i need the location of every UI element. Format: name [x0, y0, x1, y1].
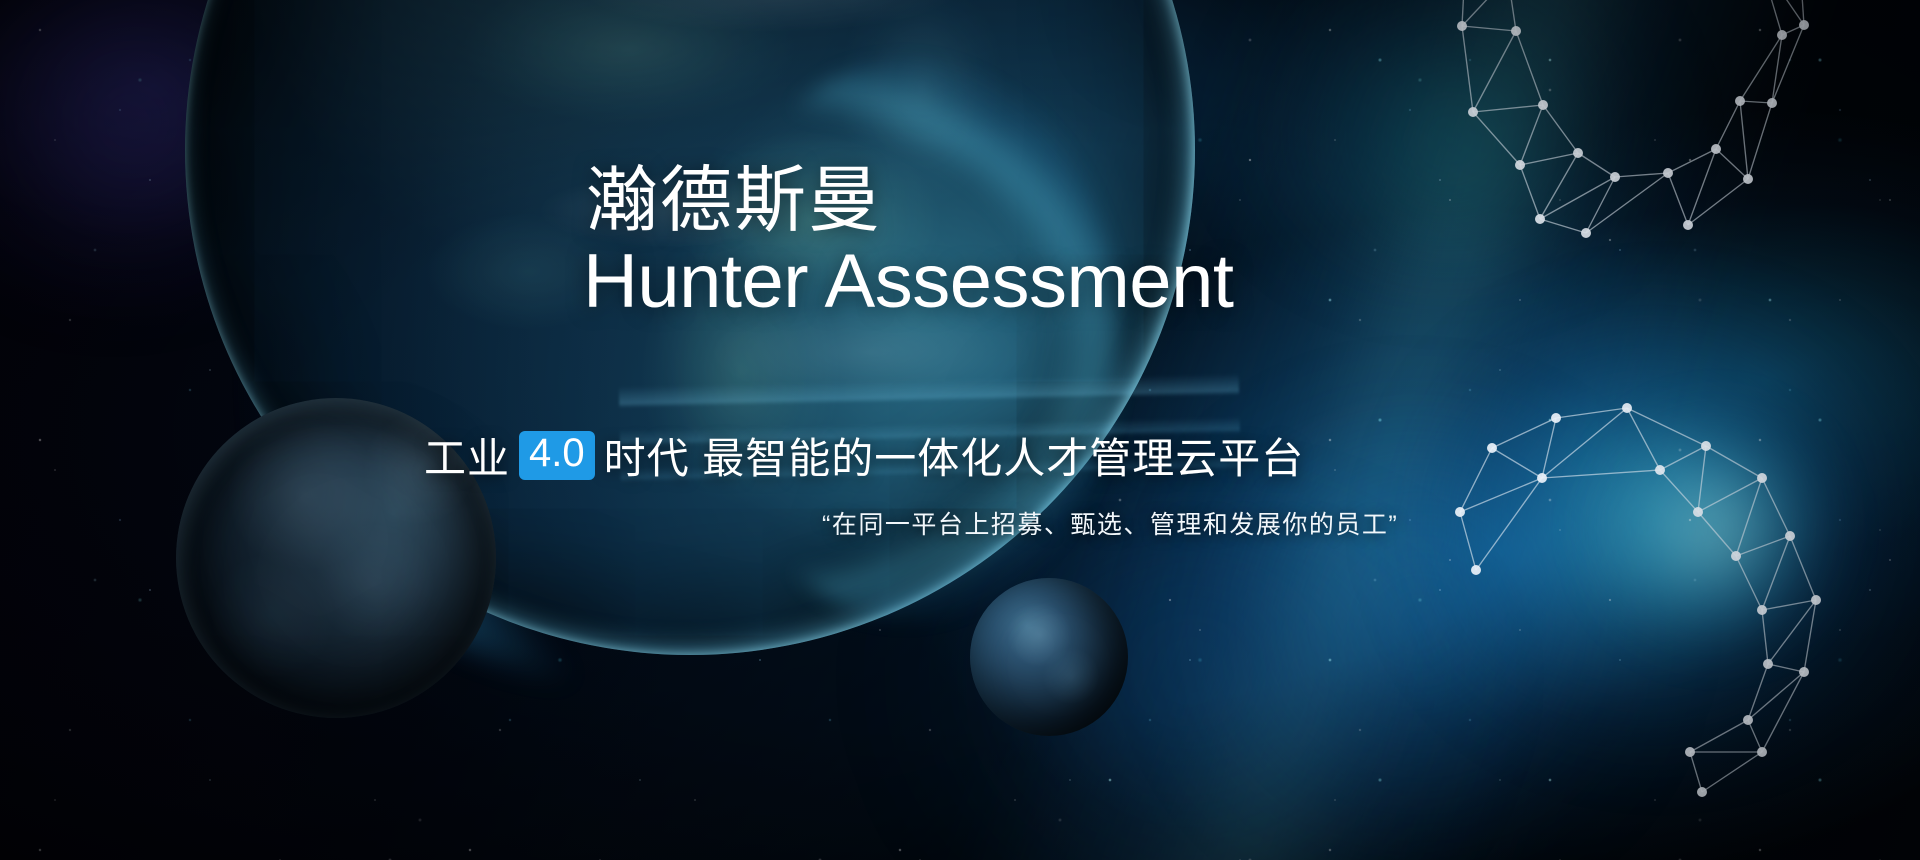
- subtitle-quote: “在同一平台上招募、甄选、管理和发展你的员工”: [822, 505, 1398, 541]
- hero-text-block: 瀚德斯曼 Hunter Assessment 工业 4.0 时代 最智能的一体化…: [0, 0, 1920, 860]
- tagline-suffix: 时代 最智能的一体化人才管理云平台: [604, 425, 1305, 486]
- hero-banner: 瀚德斯曼 Hunter Assessment 工业 4.0 时代 最智能的一体化…: [0, 0, 1920, 860]
- tagline: 工业 4.0 时代 最智能的一体化人才管理云平台: [424, 425, 1304, 486]
- industry-version-badge: 4.0: [519, 431, 595, 479]
- tagline-prefix: 工业: [424, 425, 510, 486]
- brand-title-english: Hunter Assessment: [583, 240, 1233, 324]
- brand-title-chinese: 瀚德斯曼: [586, 163, 882, 239]
